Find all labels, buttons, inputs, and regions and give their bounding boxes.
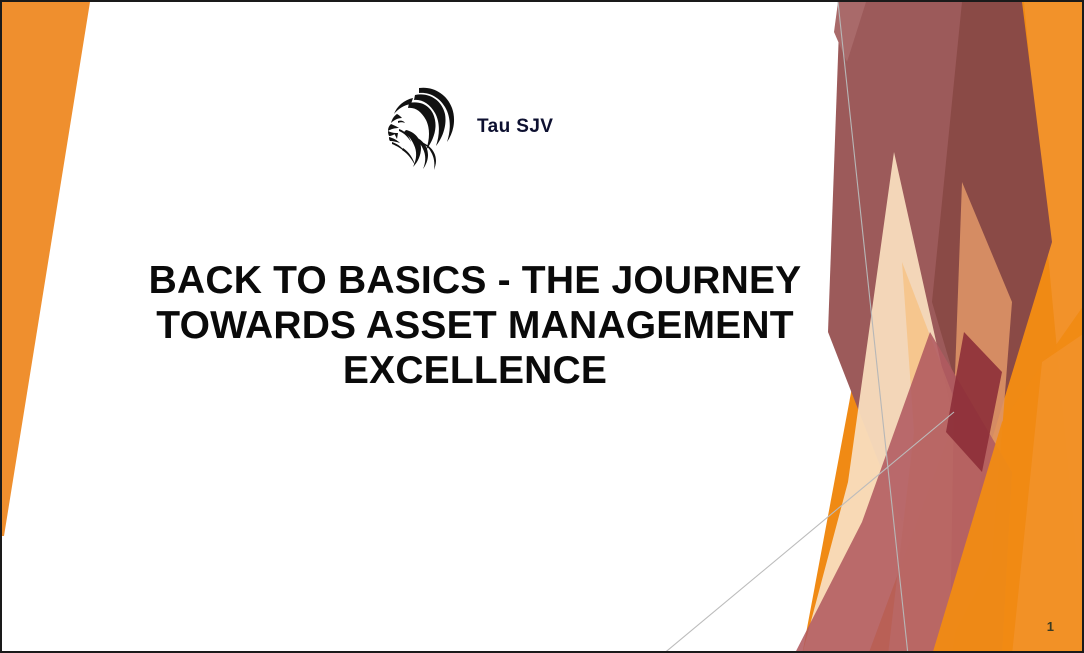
lion-head-icon <box>385 84 459 170</box>
title-container: BACK TO BASICS - THE JOURNEY TOWARDS ASS… <box>122 258 828 393</box>
slide-title: BACK TO BASICS - THE JOURNEY TOWARDS ASS… <box>122 258 828 393</box>
presentation-slide: Tau SJV BACK TO BASICS - THE JOURNEY TOW… <box>0 0 1084 653</box>
slide-number-label: 1 <box>1047 619 1054 634</box>
brand-logo-group: Tau SJV <box>385 84 553 170</box>
left-orange-triangle <box>2 2 90 536</box>
brand-name-label: Tau SJV <box>477 116 553 138</box>
